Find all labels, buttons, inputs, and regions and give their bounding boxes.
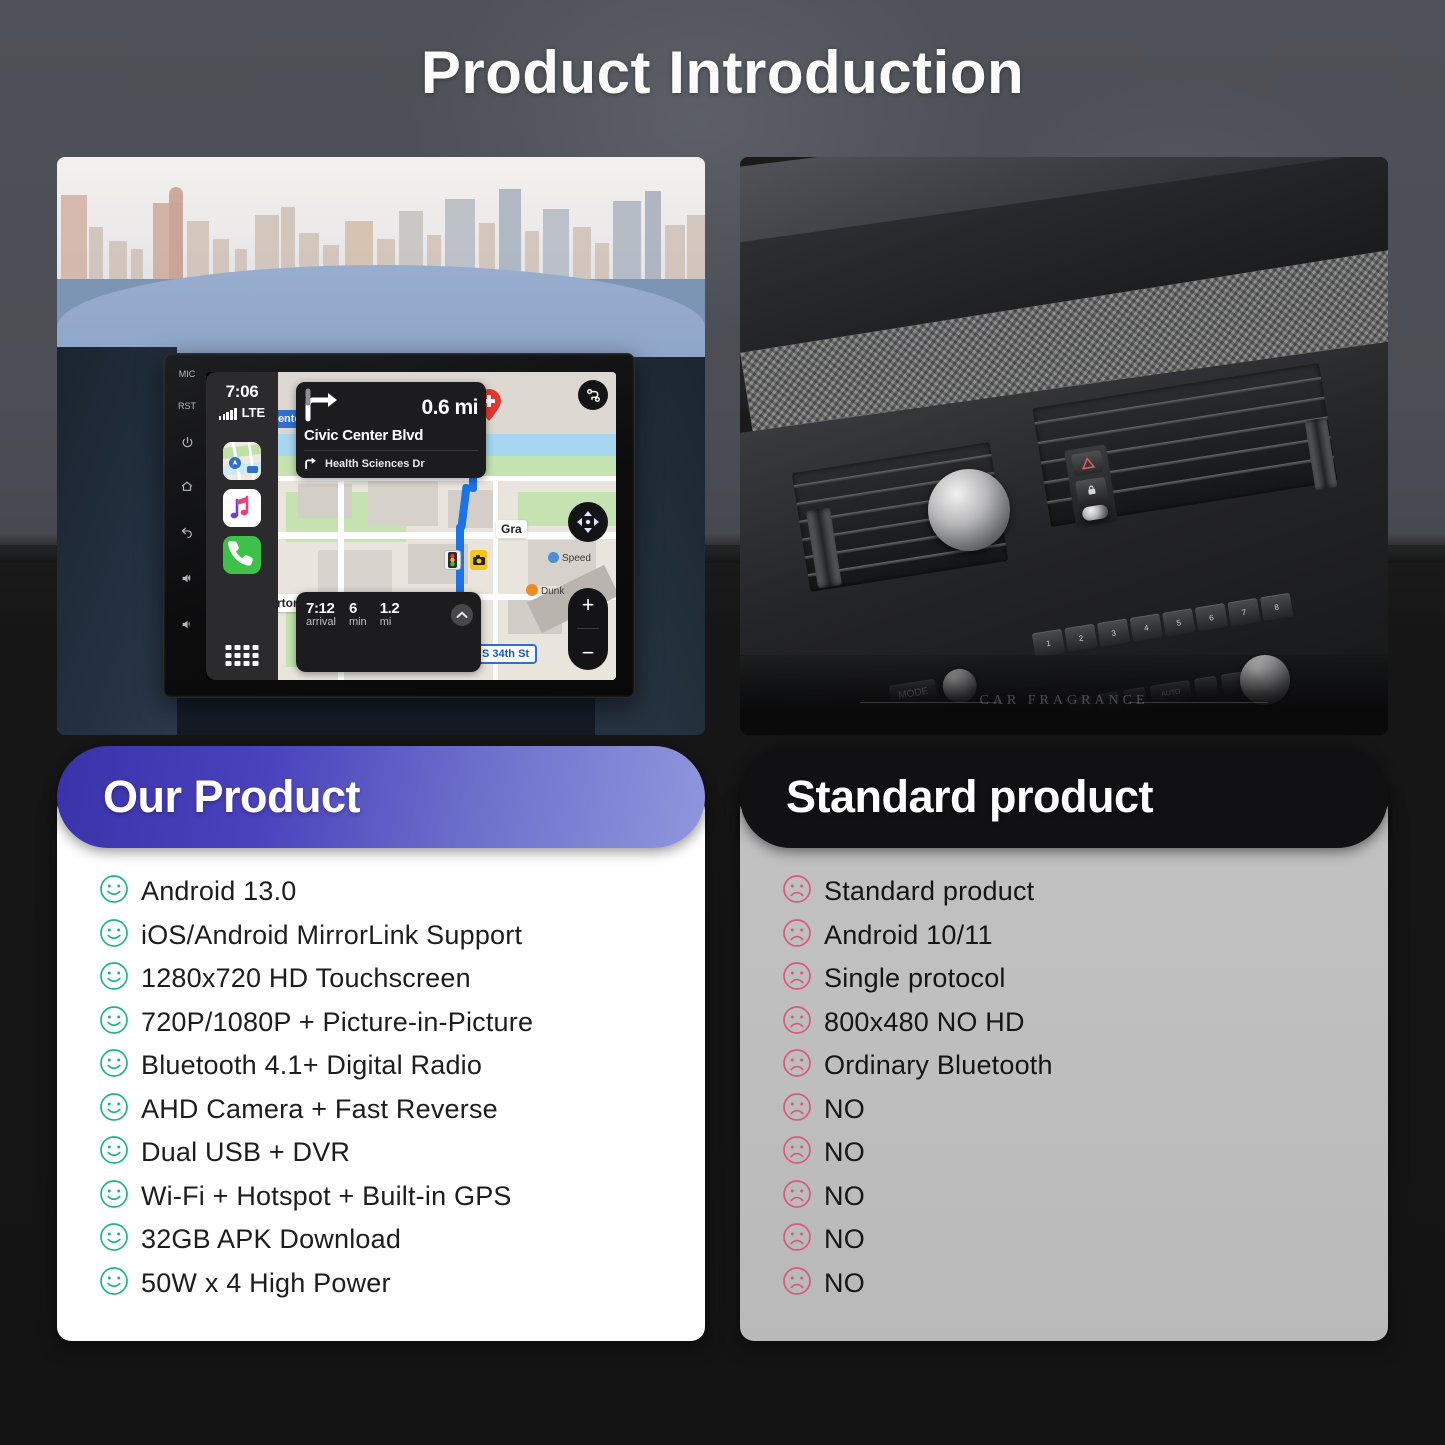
eta-distance: 1.2 mi: [380, 600, 400, 628]
feature-item: NO: [782, 1088, 1388, 1132]
feature-label: Dual USB + DVR: [141, 1137, 350, 1168]
feature-label: Android 10/11: [824, 920, 993, 951]
turn-right-icon: [304, 389, 346, 426]
eta-card[interactable]: 7:12 arrival 6 min 1.2 mi: [296, 592, 481, 672]
frowning-face-icon: [782, 1222, 824, 1257]
banner-distance: 0.6 mi: [421, 396, 478, 420]
feature-label: 1280x720 HD Touchscreen: [141, 963, 471, 994]
page-title: Product Introduction: [0, 38, 1445, 107]
map-poi-dunkin: Dunk: [526, 584, 564, 597]
feature-item: Bluetooth 4.1+ Digital Radio: [99, 1044, 705, 1088]
feature-label: NO: [824, 1094, 865, 1125]
feature-label: Single protocol: [824, 963, 1006, 994]
feature-item: Standard product: [782, 870, 1388, 914]
preset-button[interactable]: 7: [1227, 598, 1260, 626]
traffic-light-icon: [444, 550, 461, 570]
frowning-face-icon: [782, 1048, 824, 1083]
navigation-banner: 0.6 mi Civic Center Blvd Health Sciences…: [296, 382, 486, 478]
zoom-in-icon[interactable]: +: [582, 594, 595, 616]
feature-item: Dual USB + DVR: [99, 1131, 705, 1175]
standard-product-card: Standard productAndroid 10/11Single prot…: [740, 796, 1388, 1341]
volume-up-icon[interactable]: [174, 572, 200, 585]
feature-item: NO: [782, 1175, 1388, 1219]
hazard-light-button[interactable]: [1071, 450, 1104, 476]
feature-label: NO: [824, 1181, 865, 1212]
eta-arrival-label: arrival: [306, 616, 336, 628]
feature-label: Ordinary Bluetooth: [824, 1050, 1053, 1081]
feature-label: 32GB APK Download: [141, 1224, 401, 1255]
speed-camera-icon: [470, 550, 487, 570]
maps-app-icon[interactable]: [223, 442, 261, 480]
eta-distance-label: mi: [380, 616, 400, 628]
status-time: 7:06: [226, 382, 259, 402]
smiley-face-icon: [99, 961, 141, 996]
light-dimmer-knob[interactable]: [1081, 504, 1109, 522]
banner-next-street: Health Sciences Dr: [325, 458, 425, 470]
volume-down-icon[interactable]: [174, 618, 200, 631]
smiley-face-icon: [99, 1005, 141, 1040]
back-icon[interactable]: [174, 525, 200, 538]
network-label: LTE: [242, 405, 266, 420]
frowning-face-icon: [782, 1179, 824, 1214]
our-product-feature-list: Android 13.0iOS/Android MirrorLink Suppo…: [57, 870, 705, 1305]
feature-item: NO: [782, 1218, 1388, 1262]
frowning-face-icon: [782, 874, 824, 909]
preset-button[interactable]: 5: [1162, 608, 1195, 636]
feature-label: Wi-Fi + Hotspot + Built-in GPS: [141, 1181, 512, 1212]
smiley-face-icon: [99, 874, 141, 909]
eta-duration: 6 min: [349, 600, 367, 628]
feature-item: Ordinary Bluetooth: [782, 1044, 1388, 1088]
preset-button[interactable]: 6: [1195, 603, 1228, 631]
feature-label: AHD Camera + Fast Reverse: [141, 1094, 498, 1125]
smiley-face-icon: [99, 1135, 141, 1170]
feature-item: AHD Camera + Fast Reverse: [99, 1088, 705, 1132]
carplay-sidebar: 7:06 LTE: [206, 372, 278, 680]
frowning-face-icon: [782, 1092, 824, 1127]
smiley-face-icon: [99, 1179, 141, 1214]
photo-watermark: CAR FRAGRANCE: [740, 693, 1388, 709]
carplay-dock: [223, 442, 261, 574]
feature-label: Standard product: [824, 876, 1034, 907]
standard-product-title: Standard product: [786, 771, 1153, 823]
feature-item: Wi-Fi + Hotspot + Built-in GPS: [99, 1175, 705, 1219]
status-signal: LTE: [219, 405, 265, 420]
music-app-icon[interactable]: [223, 489, 261, 527]
route-overview-icon[interactable]: [578, 380, 608, 410]
sky: [57, 157, 705, 279]
carplay-screen[interactable]: 7:06 LTE: [206, 372, 616, 680]
map-poi-speed: Speed: [548, 552, 591, 564]
eta-duration-value: 6: [349, 600, 367, 617]
smiley-face-icon: [99, 918, 141, 953]
rst-key[interactable]: RST: [174, 402, 200, 411]
feature-label: 720P/1080P + Picture-in-Picture: [141, 1007, 533, 1038]
feature-item: 800x480 NO HD: [782, 1001, 1388, 1045]
standard-product-header: Standard product: [740, 746, 1388, 848]
vent-sphere-diffuser: [928, 469, 1010, 551]
feature-label: NO: [824, 1137, 865, 1168]
preset-button[interactable]: 3: [1097, 619, 1130, 647]
map-label-grand: Gra: [496, 520, 527, 538]
feature-item: iOS/Android MirrorLink Support: [99, 914, 705, 958]
zoom-out-icon[interactable]: −: [582, 642, 595, 664]
preset-button[interactable]: 8: [1260, 593, 1293, 621]
phone-app-icon[interactable]: [223, 536, 261, 574]
frowning-face-icon: [782, 1266, 824, 1301]
our-product-photo: MIC RST: [57, 157, 705, 735]
feature-item: Android 13.0: [99, 870, 705, 914]
preset-button[interactable]: 4: [1130, 613, 1163, 641]
central-lock-button[interactable]: [1075, 477, 1108, 503]
next-turn-icon: [304, 456, 318, 472]
dunkin-label: Dunk: [541, 586, 564, 597]
standard-product-feature-list: Standard productAndroid 10/11Single prot…: [740, 870, 1388, 1305]
feature-item: 1280x720 HD Touchscreen: [99, 957, 705, 1001]
standard-product-column: 1 2 3 4 5 6 7 8 MODE AUTO CAR FRAGRANCE: [740, 157, 1388, 1341]
map-label-s34th: S 34th St: [474, 644, 537, 664]
feature-item: 720P/1080P + Picture-in-Picture: [99, 1001, 705, 1045]
feature-item: 32GB APK Download: [99, 1218, 705, 1262]
smiley-face-icon: [99, 1222, 141, 1257]
eta-arrival: 7:12 arrival: [306, 600, 336, 628]
feature-label: 50W x 4 High Power: [141, 1268, 391, 1299]
smiley-face-icon: [99, 1092, 141, 1127]
eta-distance-value: 1.2: [380, 600, 400, 617]
feature-item: NO: [782, 1262, 1388, 1306]
signal-bars-icon: [219, 408, 237, 420]
our-product-column: MIC RST: [57, 157, 705, 1341]
banner-street: Civic Center Blvd: [304, 427, 478, 444]
preset-button[interactable]: 2: [1064, 624, 1097, 652]
feature-item: NO: [782, 1131, 1388, 1175]
eta-arrival-time: 7:12: [306, 600, 336, 617]
feature-label: iOS/Android MirrorLink Support: [141, 920, 522, 951]
home-icon[interactable]: [174, 480, 200, 493]
speed-label: Speed: [562, 553, 591, 564]
smiley-face-icon: [99, 1048, 141, 1083]
preset-button[interactable]: 1: [1032, 629, 1065, 657]
power-icon[interactable]: [174, 436, 200, 449]
frowning-face-icon: [782, 1005, 824, 1040]
mic-key[interactable]: MIC: [174, 370, 200, 379]
feature-label: Android 13.0: [141, 876, 297, 907]
our-product-title: Our Product: [103, 771, 360, 823]
eta-duration-label: min: [349, 616, 367, 628]
dashboard-left: [57, 347, 177, 735]
pan-control-icon[interactable]: [568, 502, 608, 542]
feature-item: Single protocol: [782, 957, 1388, 1001]
feature-item: Android 10/11: [782, 914, 1388, 958]
feature-label: NO: [824, 1224, 865, 1255]
hardware-key-strip: MIC RST: [172, 368, 202, 686]
our-product-card: Android 13.0iOS/Android MirrorLink Suppo…: [57, 796, 705, 1341]
feature-label: Bluetooth 4.1+ Digital Radio: [141, 1050, 482, 1081]
smiley-face-icon: [99, 1266, 141, 1301]
feature-item: 50W x 4 High Power: [99, 1262, 705, 1306]
feature-label: 800x480 NO HD: [824, 1007, 1025, 1038]
zoom-controls[interactable]: + −: [568, 588, 608, 670]
our-product-header: Our Product: [57, 746, 705, 848]
app-grid-icon[interactable]: [226, 645, 259, 666]
chevron-up-icon[interactable]: [451, 604, 473, 626]
standard-product-photo: 1 2 3 4 5 6 7 8 MODE AUTO CAR FRAGRANCE: [740, 157, 1388, 735]
frowning-face-icon: [782, 918, 824, 953]
frowning-face-icon: [782, 1135, 824, 1170]
android-head-unit: MIC RST: [163, 353, 635, 698]
feature-label: NO: [824, 1268, 865, 1299]
frowning-face-icon: [782, 961, 824, 996]
carplay-map[interactable]: Center Blvd Children's Hospital of Phila…: [278, 372, 616, 680]
